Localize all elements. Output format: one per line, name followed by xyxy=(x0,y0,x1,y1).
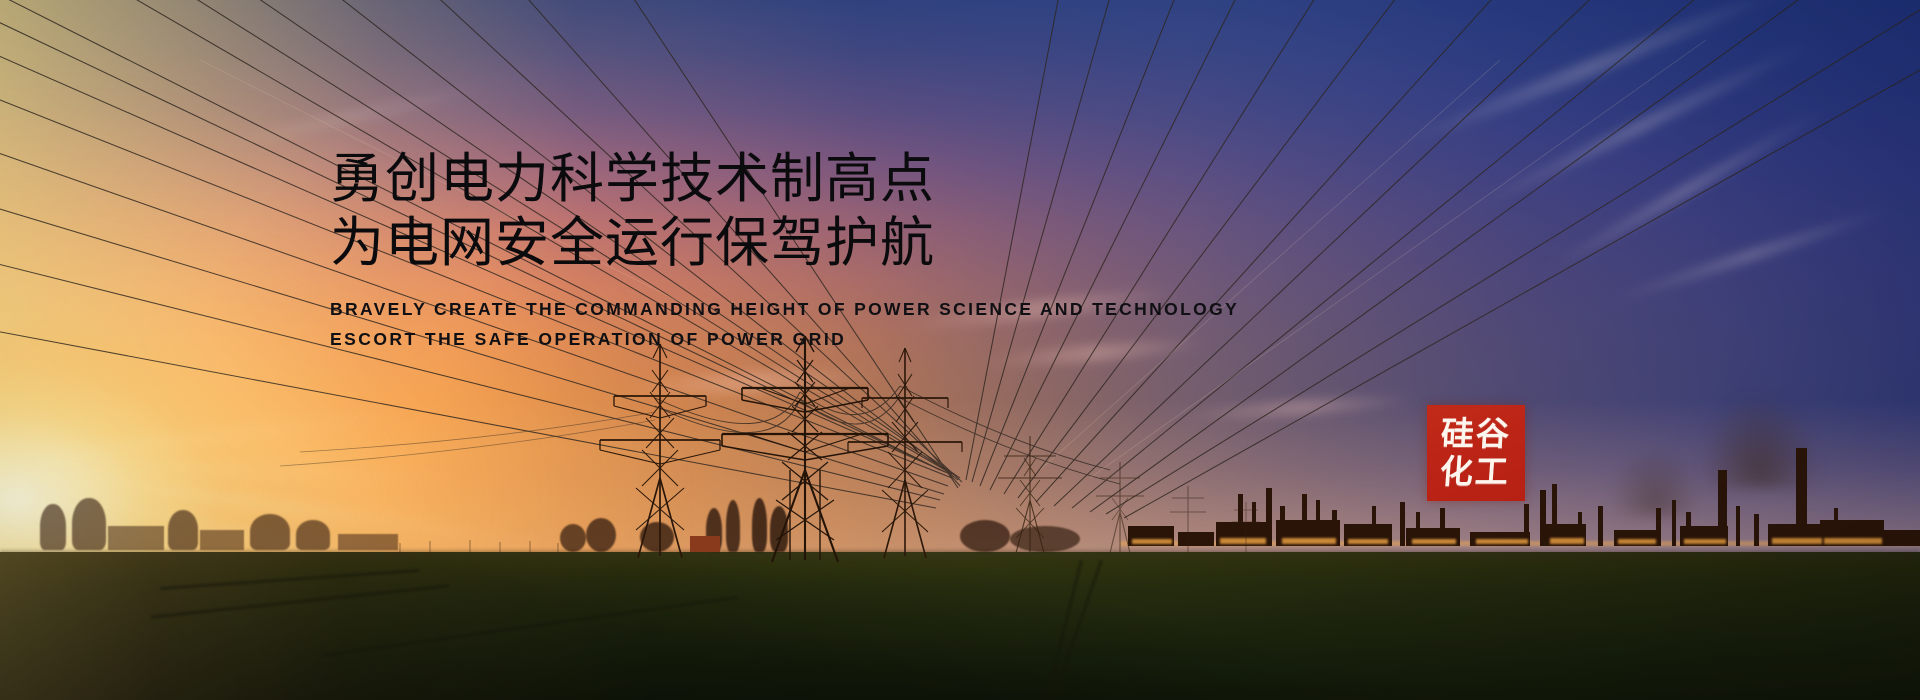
logo-glyph-stack: 硅谷 化工 xyxy=(1427,405,1525,501)
pylon-distant-group xyxy=(998,436,1260,553)
pylon-main xyxy=(722,336,888,562)
subheadline: BRAVELY CREATE THE COMMANDING HEIGHT OF … xyxy=(330,294,1430,354)
pylon-right xyxy=(848,348,962,558)
hero-banner: 勇创电力科学技术制高点 为电网安全运行保驾护航 BRAVELY CREATE T… xyxy=(0,0,1920,700)
pylon-left xyxy=(600,344,720,558)
subheadline-line-1: BRAVELY CREATE THE COMMANDING HEIGHT OF … xyxy=(330,299,1239,319)
subheadline-line-2: ESCORT THE SAFE OPERATION OF POWER GRID xyxy=(330,324,1430,354)
logo-line-1: 硅谷 xyxy=(1440,416,1512,452)
distant-poles xyxy=(400,540,558,556)
company-logo-seal[interactable]: 硅谷 化工 xyxy=(1427,405,1525,501)
logo-line-2: 化工 xyxy=(1439,454,1512,490)
banner-copy: 勇创电力科学技术制高点 为电网安全运行保驾护航 BRAVELY CREATE T… xyxy=(330,150,1430,354)
headline-line-2: 为电网安全运行保驾护航 xyxy=(330,214,1430,272)
headline: 勇创电力科学技术制高点 为电网安全运行保驾护航 xyxy=(330,150,1430,272)
headline-line-1: 勇创电力科学技术制高点 xyxy=(330,149,935,209)
